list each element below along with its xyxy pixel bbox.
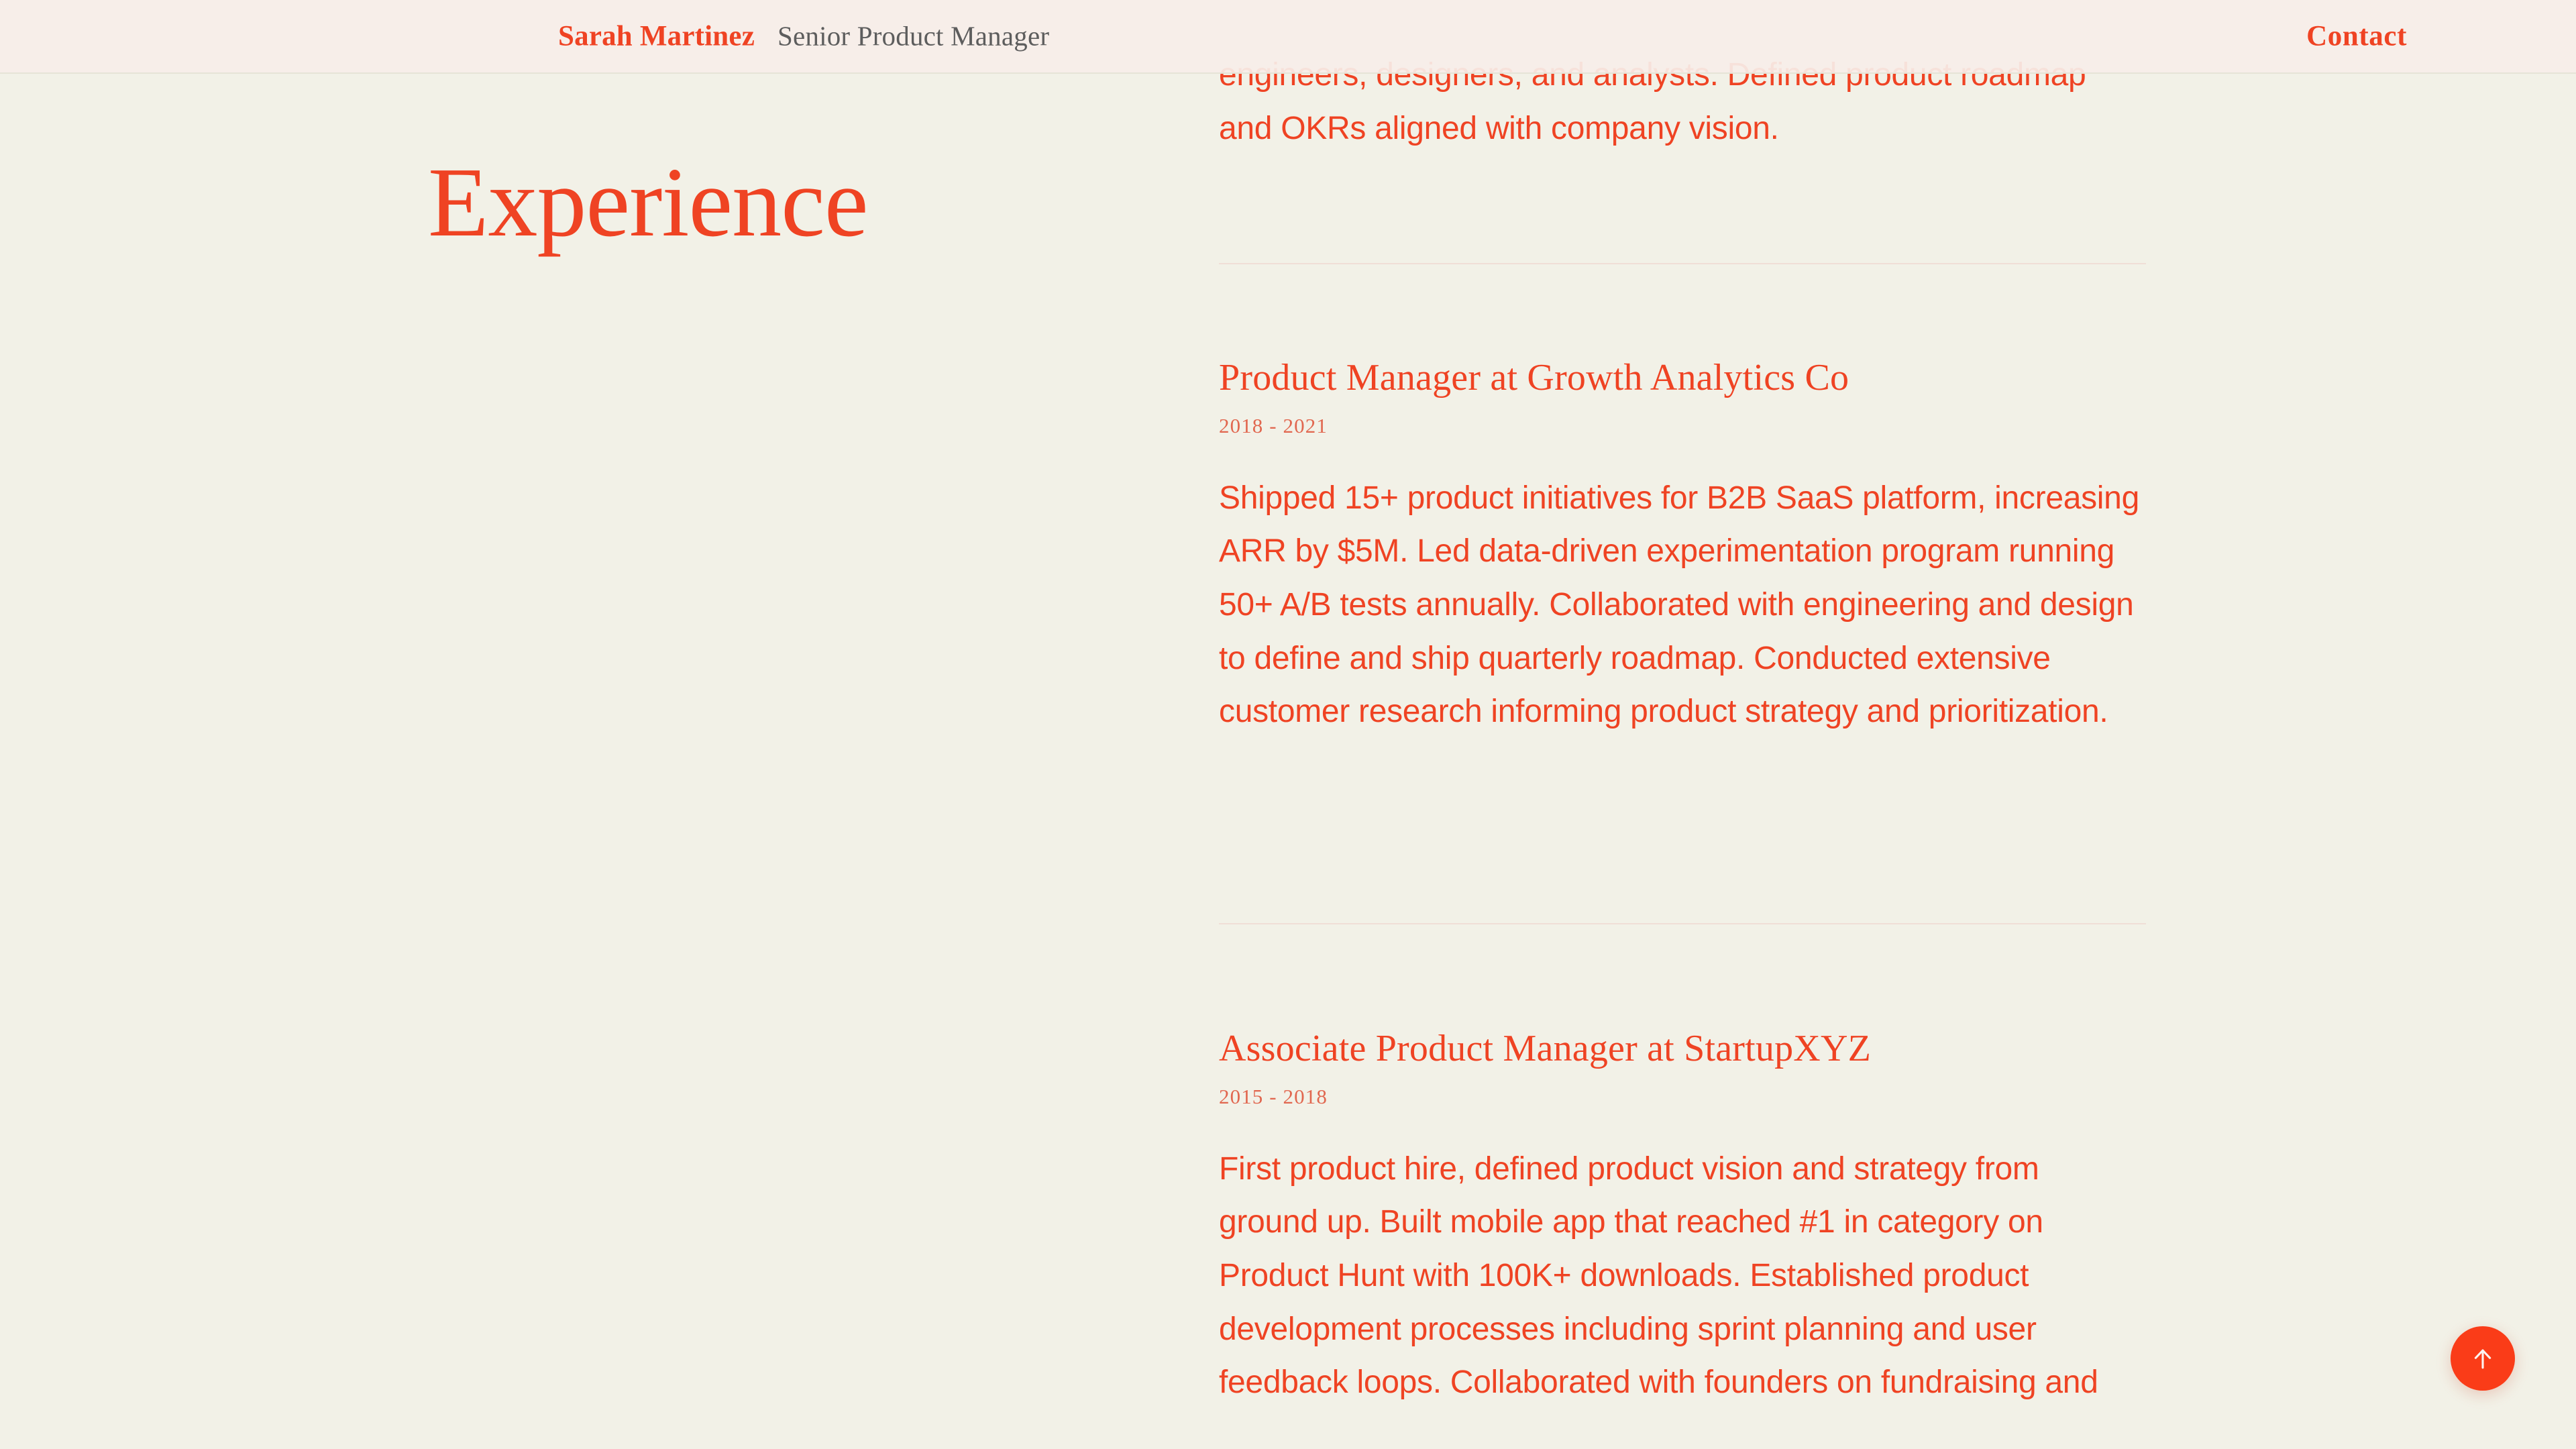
site-header: Sarah Martinez Senior Product Manager Co… bbox=[0, 0, 2576, 74]
arrow-up-icon bbox=[2468, 1344, 2498, 1373]
experience-role-title: Product Manager at Growth Analytics Co bbox=[1219, 357, 2146, 399]
brand-block[interactable]: Sarah Martinez Senior Product Manager bbox=[558, 20, 1049, 53]
page-root: Sarah Martinez Senior Product Manager Co… bbox=[0, 0, 2576, 1449]
experience-dates: 2018 - 2021 bbox=[1219, 414, 2146, 438]
experience-entry: Associate Product Manager at StartupXYZ … bbox=[1219, 1028, 2146, 1409]
nav-link-contact[interactable]: Contact bbox=[2306, 20, 2407, 53]
experience-role-title: Associate Product Manager at StartupXYZ bbox=[1219, 1028, 2146, 1070]
experience-description: First product hire, defined product visi… bbox=[1219, 1142, 2146, 1409]
scroll-to-top-button[interactable] bbox=[2451, 1326, 2515, 1391]
brand-name[interactable]: Sarah Martinez bbox=[558, 20, 755, 53]
main-content: Experience engineers, designers, and ana… bbox=[0, 0, 2576, 1449]
brand-role: Senior Product Manager bbox=[777, 20, 1049, 52]
page-title: Experience bbox=[428, 153, 868, 252]
entry-divider bbox=[1219, 263, 2146, 264]
experience-entry: Product Manager at Growth Analytics Co 2… bbox=[1219, 357, 2146, 739]
experience-description: Shipped 15+ product initiatives for B2B … bbox=[1219, 472, 2146, 739]
entry-divider bbox=[1219, 923, 2146, 924]
experience-dates: 2015 - 2018 bbox=[1219, 1085, 2146, 1109]
